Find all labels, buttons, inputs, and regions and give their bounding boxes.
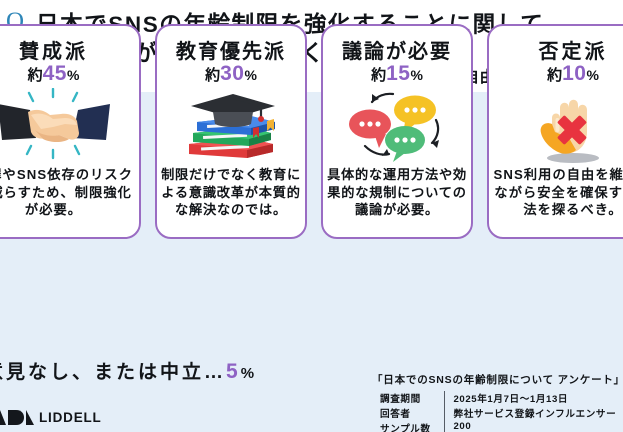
card-approx-label: 約: [371, 67, 386, 84]
graduation-books-icon: [157, 88, 305, 164]
card-approx-label: 約: [28, 67, 43, 84]
card-description: 制限だけでなく教育による意識改革が本質的な解決なのでは。: [157, 166, 305, 219]
table-row: サンプル数 200: [372, 421, 623, 432]
card-description: 犯罪やSNS依存のリスクを減らすため、制限強化が必要。: [0, 166, 139, 219]
handshake-icon: [0, 88, 139, 164]
sample-size-label: サンプル数: [372, 421, 444, 432]
result-card-needs-discussion: 議論が必要 約15%: [321, 24, 473, 239]
card-description: 具体的な運用方法や効果的な規制についての議論が必要。: [323, 166, 471, 219]
card-percent-sign: %: [244, 67, 256, 83]
liddell-mark-icon: [0, 409, 34, 426]
card-percent-value: 10: [562, 62, 586, 85]
card-title: 教育優先派: [157, 35, 305, 64]
card-percent-sign: %: [67, 67, 79, 83]
card-approx-label: 約: [205, 67, 220, 84]
stop-hand-icon: [489, 88, 623, 164]
card-percent-value: 30: [220, 62, 244, 85]
survey-title: 「日本でのSNSの年齢制限について アンケート」: [372, 372, 623, 387]
card-percent-value: 45: [43, 62, 67, 85]
card-percentage: 約45%: [0, 62, 139, 86]
respondents-value: 弊社サービス登録インフルエンサー: [444, 406, 623, 421]
card-percentage: 約30%: [157, 62, 305, 86]
card-percentage: 約10%: [489, 62, 623, 86]
speech-bubbles-icon: [323, 88, 471, 164]
card-percent-value: 15: [386, 62, 410, 85]
card-title: 議論が必要: [323, 35, 471, 64]
survey-period-label: 調査期間: [372, 391, 444, 406]
card-percentage: 約15%: [323, 62, 471, 86]
neutral-percent-sign: %: [241, 365, 257, 382]
respondents-label: 回答者: [372, 406, 444, 421]
table-row: 回答者 弊社サービス登録インフルエンサー: [372, 406, 623, 421]
result-card-opposed: 否定派 約10% SNS利用の自由を維持しながら安全を確保する方法を探るべき。: [487, 24, 623, 239]
survey-metadata: 「日本でのSNSの年齢制限について アンケート」 調査期間 2025年1月7日〜…: [372, 372, 623, 432]
liddell-logo: LIDDELL: [0, 409, 102, 426]
neutral-label: 意見なし、または中立…: [0, 362, 226, 383]
survey-detail-table: 調査期間 2025年1月7日〜1月13日 回答者 弊社サービス登録インフルエンサ…: [372, 391, 623, 432]
survey-period-value: 2025年1月7日〜1月13日: [444, 391, 623, 406]
card-title: 賛成派: [0, 35, 139, 64]
card-description: SNS利用の自由を維持しながら安全を確保する方法を探るべき。: [489, 166, 623, 219]
liddell-logo-text: LIDDELL: [39, 410, 102, 425]
card-percent-sign: %: [586, 67, 598, 83]
sample-size-value: 200: [444, 421, 623, 432]
neutral-summary: 意見なし、または中立…5%: [0, 357, 257, 384]
card-title: 否定派: [489, 35, 623, 64]
card-approx-label: 約: [547, 67, 562, 84]
result-card-agree: 賛成派 約45% 犯罪やSNS依存のリスクを減らすため、制限強化が必要。: [0, 24, 141, 239]
table-row: 調査期間 2025年1月7日〜1月13日: [372, 391, 623, 406]
neutral-percent-value: 5: [226, 360, 241, 383]
result-card-education-first: 教育優先派 約30%: [155, 24, 307, 239]
card-percent-sign: %: [410, 67, 422, 83]
